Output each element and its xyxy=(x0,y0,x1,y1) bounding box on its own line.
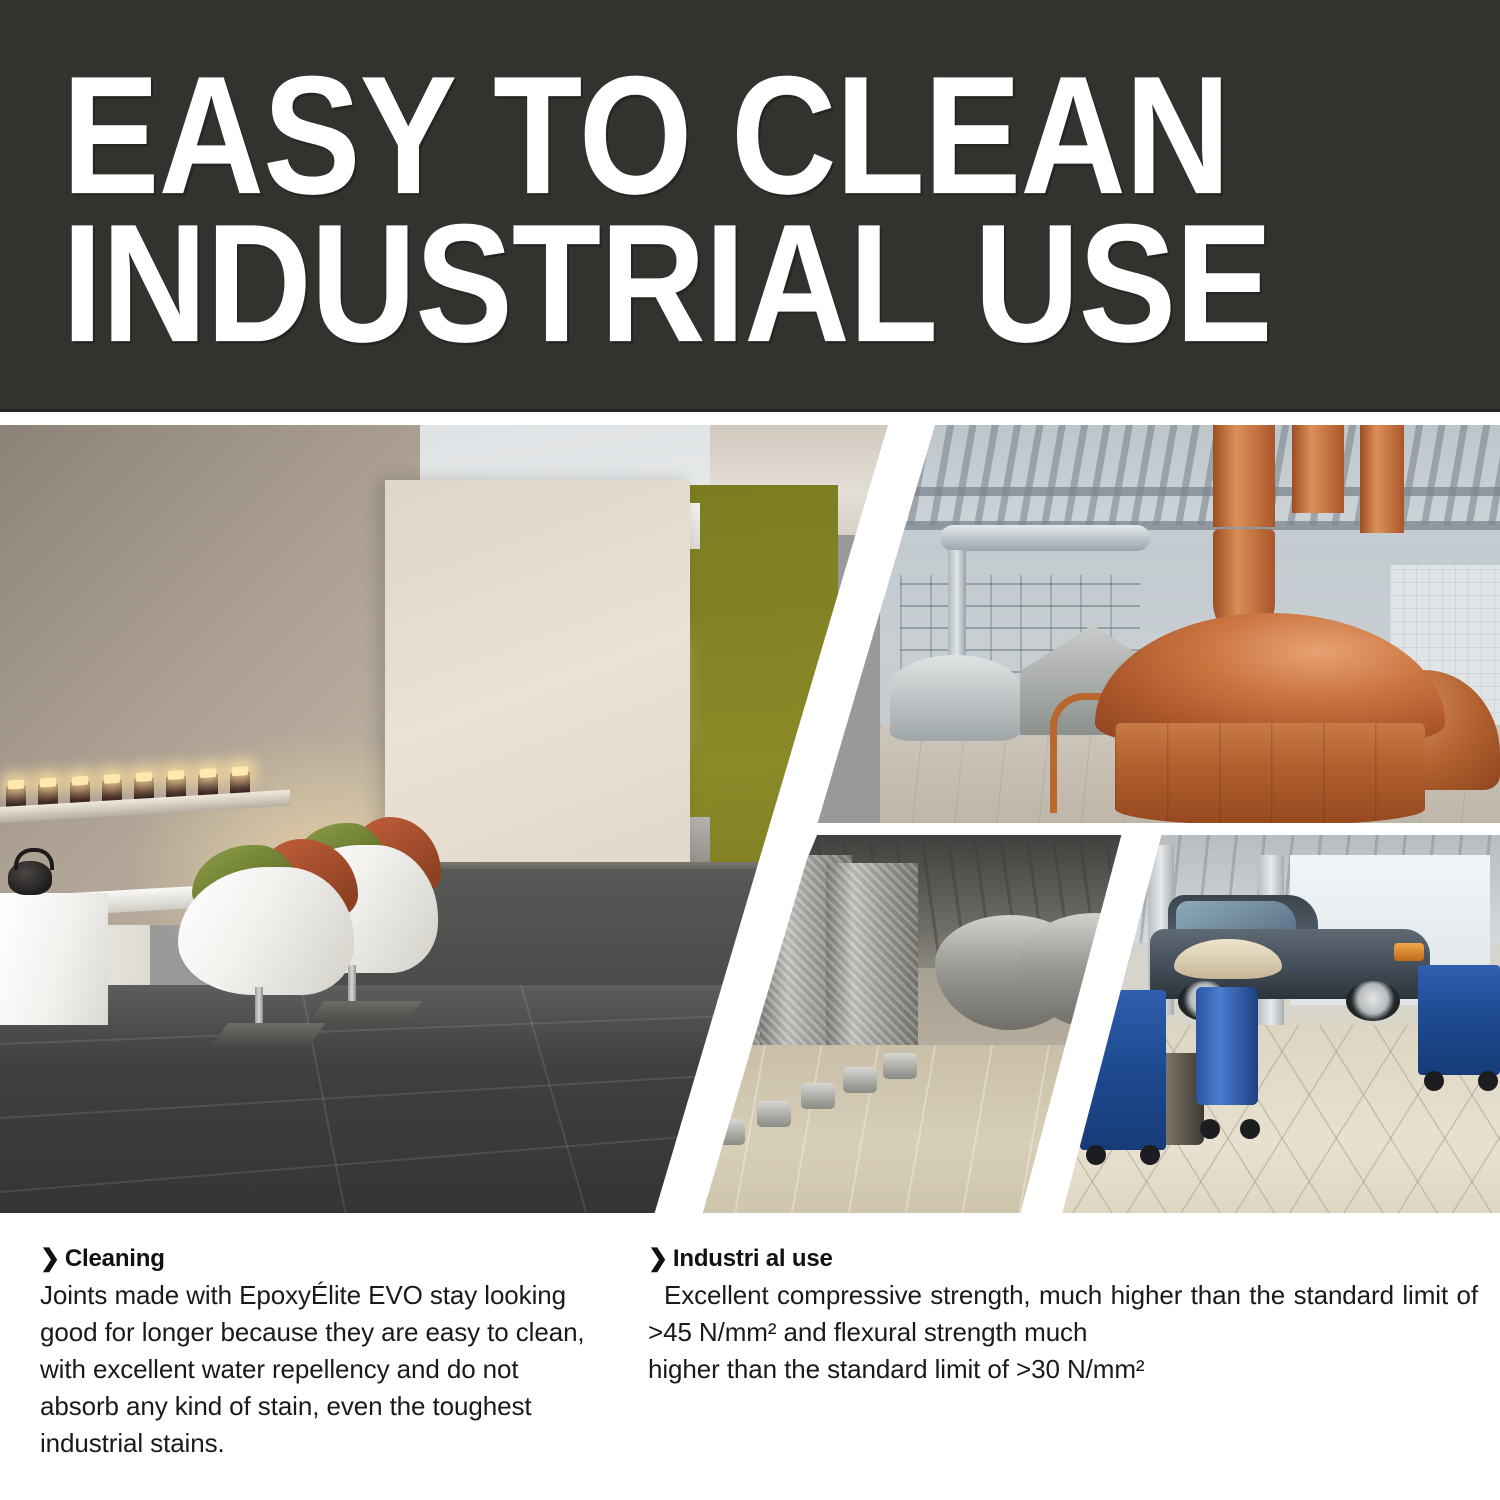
cleaning-heading: ❯Cleaning xyxy=(40,1244,595,1273)
chevron-right-icon: ❯ xyxy=(648,1244,668,1273)
header-banner: EASY TO CLEAN INDUSTRIAL USE xyxy=(0,0,1500,412)
caption-area: ❯Cleaning Joints made with EpoxyÉlite EV… xyxy=(0,1222,1500,1500)
divider-right-diagonal xyxy=(1018,833,1162,1222)
banner-bottom-rule xyxy=(0,409,1500,412)
headline-line-2: INDUSTRIAL USE xyxy=(62,196,1500,373)
headline-group: EASY TO CLEAN INDUSTRIAL USE xyxy=(62,48,1442,341)
divider-overlay xyxy=(0,425,1500,1222)
cleaning-heading-label: Cleaning xyxy=(65,1245,165,1272)
industrial-use-body-main: Excellent compressive strength, much hig… xyxy=(648,1280,1478,1347)
cleaning-body-text: Joints made with EpoxyÉlite EVO stay loo… xyxy=(40,1277,595,1462)
industrial-use-body-last-line: higher than the standard limit of >30 N/… xyxy=(648,1351,1478,1388)
image-montage xyxy=(0,425,1500,1222)
poster-root: EASY TO CLEAN INDUSTRIAL USE xyxy=(0,0,1500,1500)
industrial-use-body-text: Excellent compressive strength, much hig… xyxy=(648,1277,1478,1388)
chevron-right-icon: ❯ xyxy=(40,1244,60,1273)
caption-industrial-use: ❯Industri al use Excellent compressive s… xyxy=(648,1244,1478,1388)
divider-bottom-edge xyxy=(0,1213,1500,1222)
industrial-use-heading: ❯Industri al use xyxy=(648,1244,1478,1273)
caption-cleaning: ❯Cleaning Joints made with EpoxyÉlite EV… xyxy=(40,1244,595,1462)
industrial-use-heading-label: Industri al use xyxy=(673,1245,833,1272)
